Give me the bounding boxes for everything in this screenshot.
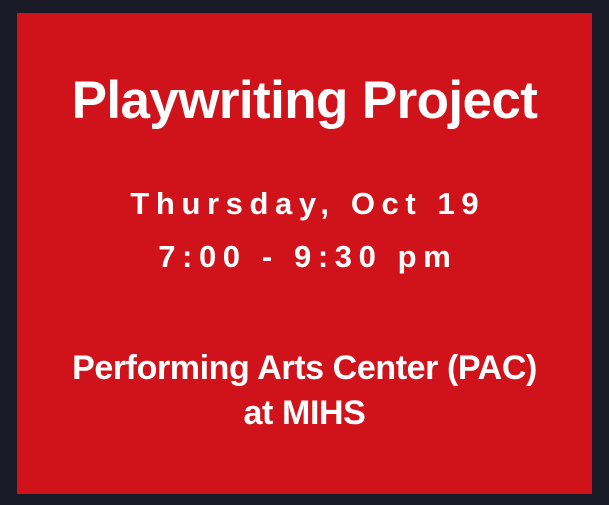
event-title: Playwriting Project: [72, 74, 538, 127]
event-date: Thursday, Oct 19: [124, 177, 485, 230]
venue-block: Performing Arts Center (PAC) at MIHS: [72, 346, 537, 436]
venue-location: at MIHS: [244, 391, 366, 436]
venue-name: Performing Arts Center (PAC): [72, 346, 537, 391]
event-time: 7:00 - 9:30 pm: [152, 230, 458, 283]
poster-panel: Playwriting Project Thursday, Oct 19 7:0…: [17, 13, 592, 494]
schedule-block: Thursday, Oct 19 7:00 - 9:30 pm: [124, 177, 485, 284]
poster-frame: Playwriting Project Thursday, Oct 19 7:0…: [0, 0, 609, 505]
